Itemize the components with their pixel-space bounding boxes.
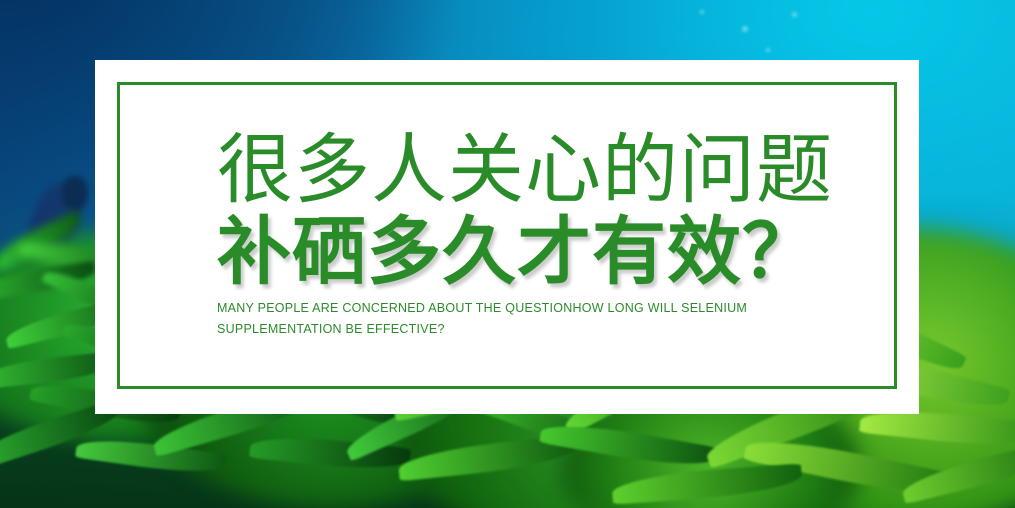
page-title-line-1: 很多人关心的问题 — [217, 128, 837, 214]
bubble-icon — [742, 26, 748, 32]
bubble-icon — [766, 48, 770, 52]
bubble-icon — [700, 10, 704, 14]
headline-block: 很多人关心的问题 补硒多久才有效？ MANY PEOPLE ARE CONCER… — [217, 128, 837, 340]
content-card: 很多人关心的问题 补硒多久才有效？ MANY PEOPLE ARE CONCER… — [95, 60, 919, 414]
page-title-line-2: 补硒多久才有效？ — [217, 210, 837, 294]
diver-fin-strap — [62, 176, 88, 210]
bubble-icon — [792, 12, 797, 17]
poster-canvas: 很多人关心的问题 补硒多久才有效？ MANY PEOPLE ARE CONCER… — [0, 0, 1015, 508]
subtitle-text: MANY PEOPLE ARE CONCERNED ABOUT THE QUES… — [217, 298, 821, 340]
